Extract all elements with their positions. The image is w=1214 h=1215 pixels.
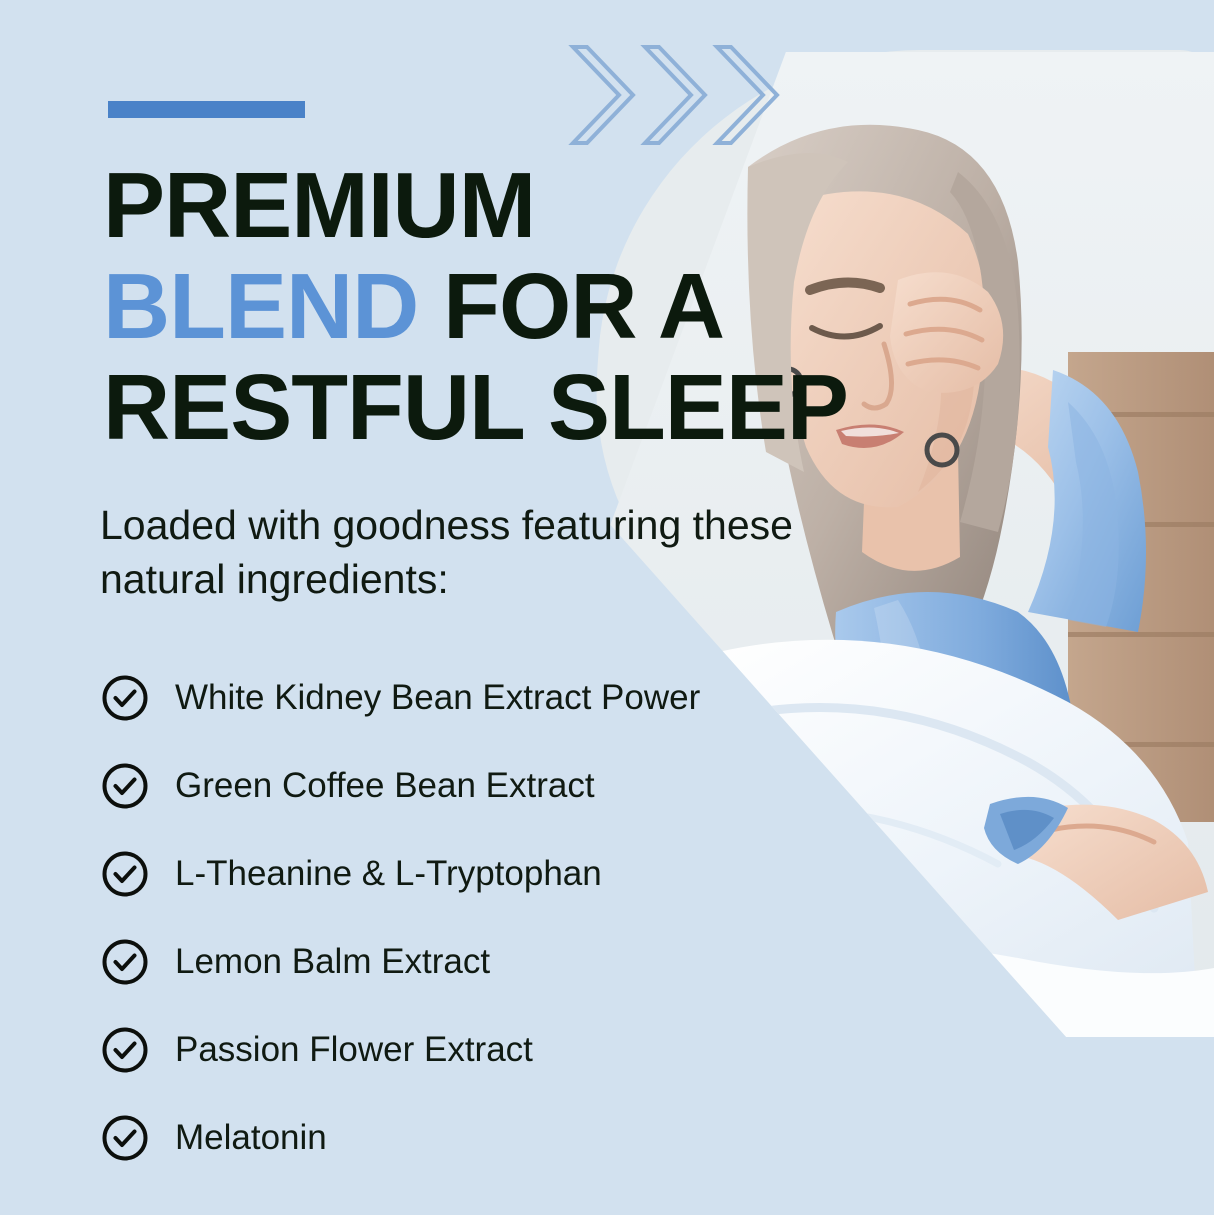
list-item: L-Theanine & L-Tryptophan [101, 830, 901, 918]
ingredients-list: White Kidney Bean Extract Power Green Co… [101, 654, 901, 1182]
check-circle-icon [101, 850, 149, 898]
check-circle-icon [101, 762, 149, 810]
list-item: Green Coffee Bean Extract [101, 742, 901, 830]
list-item-label: White Kidney Bean Extract Power [175, 678, 700, 718]
list-item-label: Lemon Balm Extract [175, 942, 490, 982]
list-item-label: Green Coffee Bean Extract [175, 766, 595, 806]
list-item-label: Passion Flower Extract [175, 1030, 533, 1070]
check-circle-icon [101, 938, 149, 986]
check-circle-icon [101, 1114, 149, 1162]
page-title: PREMIUM BLEND FOR A RESTFUL SLEEP [103, 155, 863, 458]
list-item: Melatonin [101, 1094, 901, 1182]
headline-line-1: PREMIUM [103, 155, 863, 256]
list-item: Lemon Balm Extract [101, 918, 901, 1006]
subheading: Loaded with goodness featuring these nat… [100, 498, 845, 606]
headline-line-2: BLEND FOR A [103, 256, 863, 357]
headline-line-2-rest: FOR A [418, 254, 724, 358]
chevron-arrows-decoration [563, 33, 823, 158]
list-item: White Kidney Bean Extract Power [101, 654, 901, 742]
list-item-label: L-Theanine & L-Tryptophan [175, 854, 602, 894]
check-circle-icon [101, 674, 149, 722]
list-item-label: Melatonin [175, 1118, 327, 1158]
headline-accent-word: BLEND [103, 254, 418, 358]
check-circle-icon [101, 1026, 149, 1074]
promo-poster: PREMIUM BLEND FOR A RESTFUL SLEEP Loaded… [0, 0, 1214, 1215]
chevron-icon-1 [573, 47, 633, 143]
headline-line-3: RESTFUL SLEEP [103, 357, 863, 458]
chevron-icon-3 [717, 47, 777, 143]
chevron-icon-2 [645, 47, 705, 143]
accent-bar [108, 101, 305, 118]
list-item: Passion Flower Extract [101, 1006, 901, 1094]
